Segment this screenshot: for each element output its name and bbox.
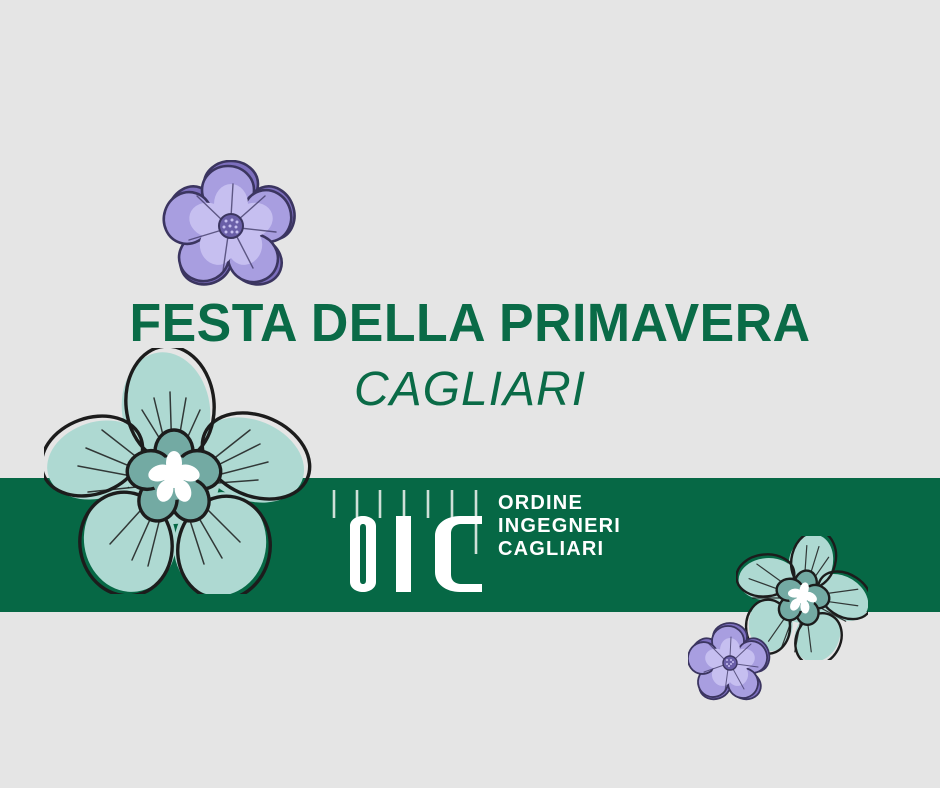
oic-logo-mark (330, 484, 482, 596)
page-title: FESTA DELLA PRIMAVERA (19, 296, 921, 350)
logo-wordmark: ORDINE INGEGNERI CAGLIARI (498, 492, 621, 561)
flower-purple-small-icon (688, 622, 772, 704)
poster-canvas: FESTA DELLA PRIMAVERA CAGLIARI (0, 0, 940, 788)
logo-oic-letters (350, 516, 482, 592)
oic-logo: ORDINE INGEGNERI CAGLIARI (330, 484, 620, 596)
logo-line-ordine: ORDINE (498, 492, 621, 515)
flower-purple-top-icon (160, 160, 302, 292)
logo-line-ingegneri: INGEGNERI (498, 515, 621, 538)
page-subtitle: CAGLIARI (0, 366, 940, 414)
logo-line-cagliari: CAGLIARI (498, 538, 621, 561)
